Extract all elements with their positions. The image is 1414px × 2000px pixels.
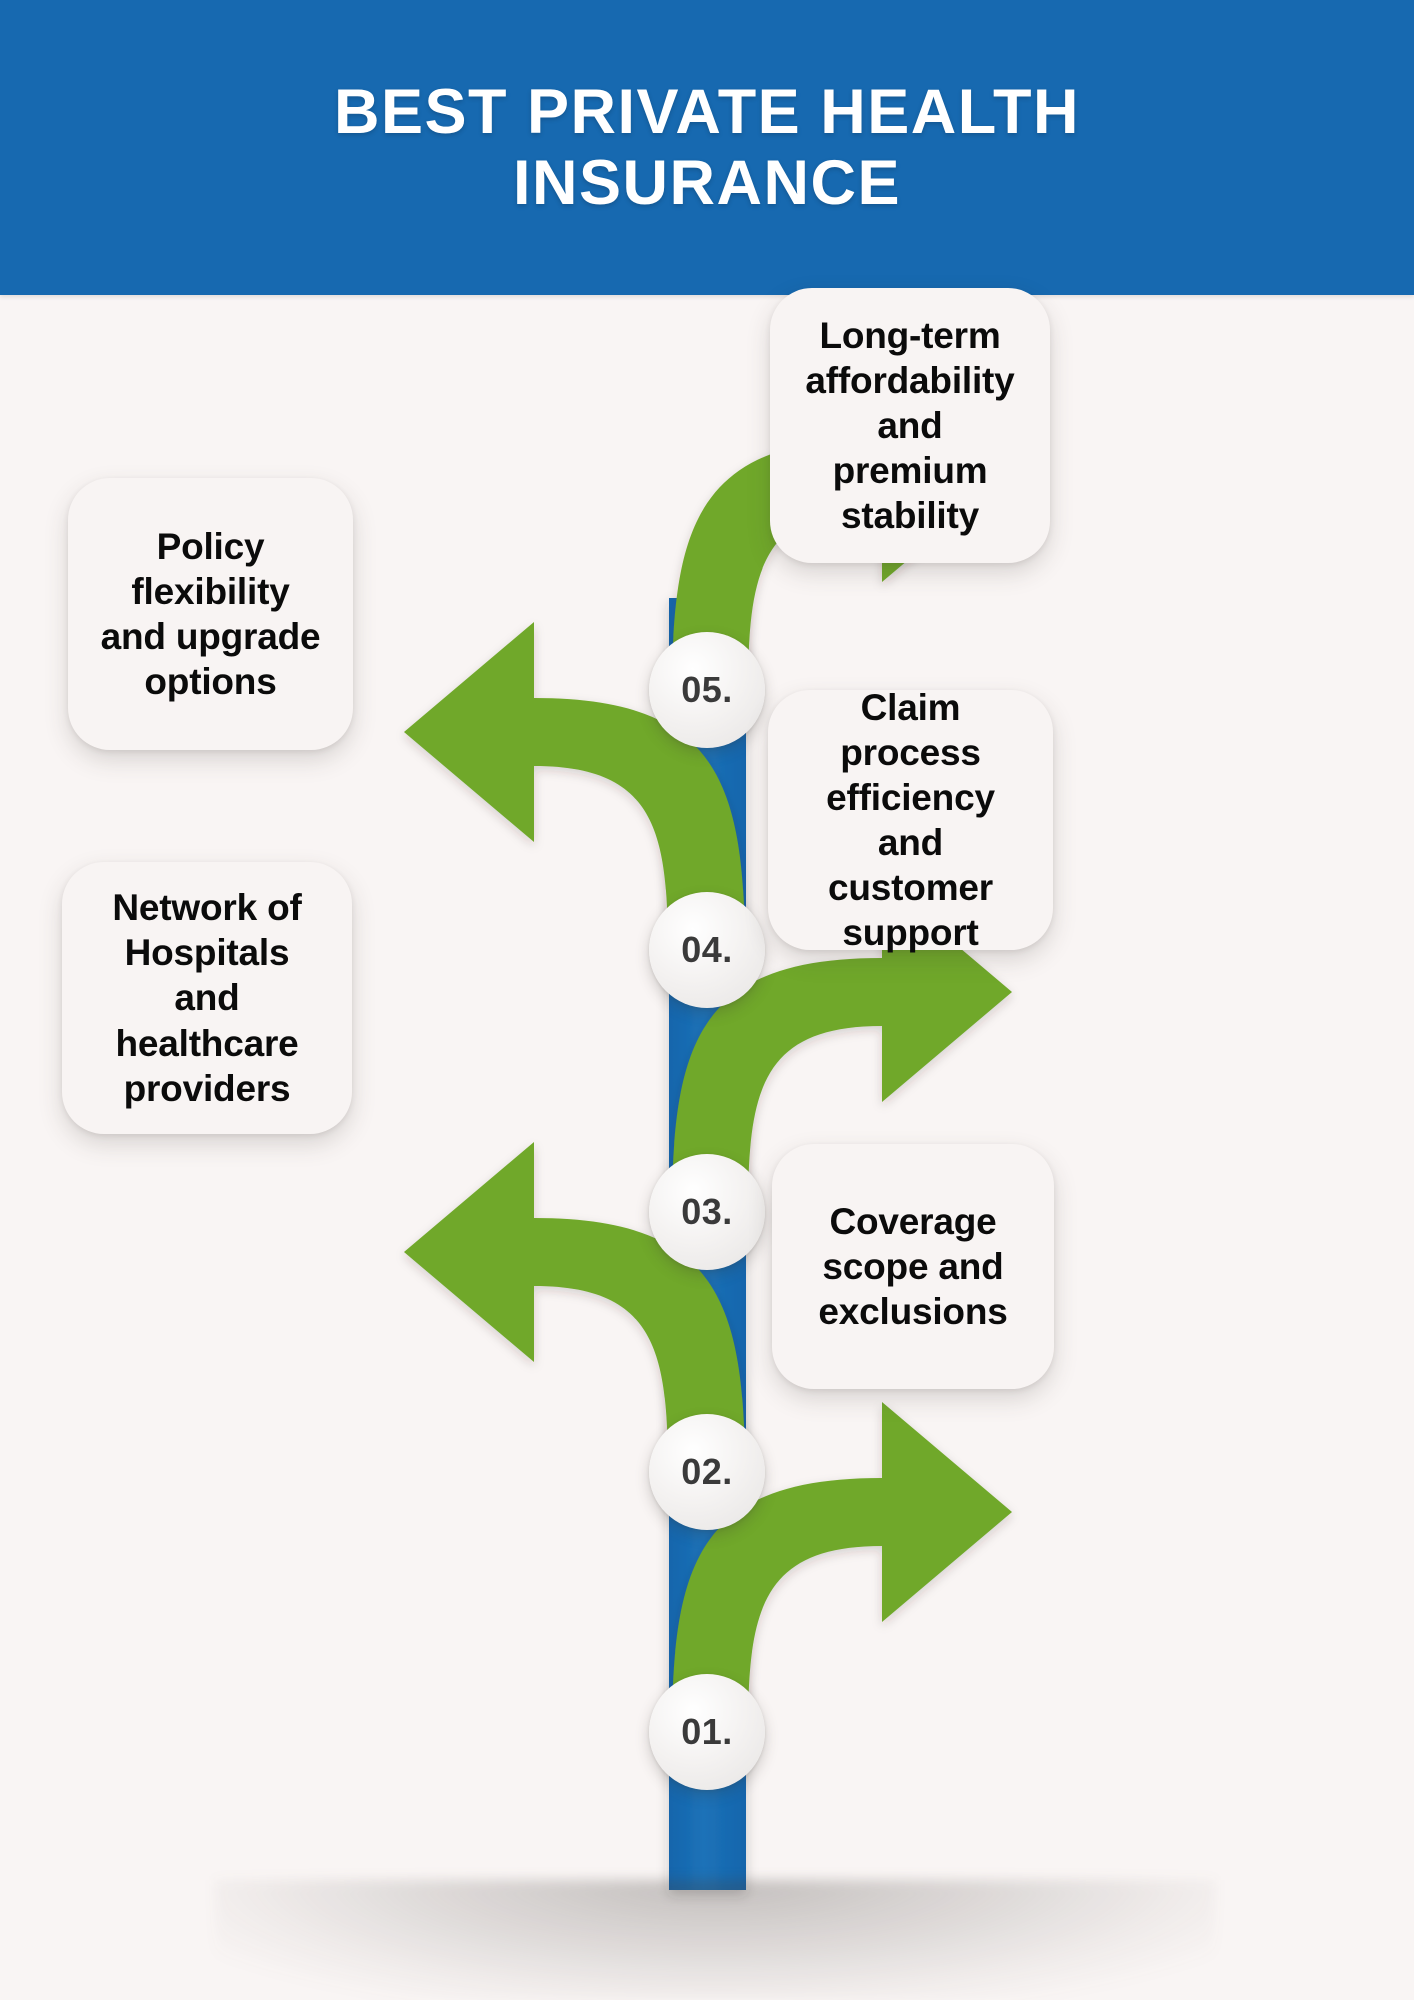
step-number-circle-02[interactable]: 02. — [649, 1414, 765, 1530]
step-number-circle-03[interactable]: 03. — [649, 1154, 765, 1270]
step-card-text-05: Long-term affordability and premium stab… — [796, 313, 1024, 539]
step-card-02[interactable]: Network of Hospitals and healthcare prov… — [62, 862, 352, 1134]
step-number-label-03: 03. — [681, 1191, 733, 1233]
step-card-text-03: Claim process efficiency and customer su… — [794, 685, 1027, 956]
step-number-label-04: 04. — [681, 929, 733, 971]
step-number-label-05: 05. — [681, 669, 733, 711]
step-number-label-01: 01. — [681, 1711, 733, 1753]
step-card-01[interactable]: Coverage scope and exclusions — [772, 1144, 1054, 1389]
step-number-circle-01[interactable]: 01. — [649, 1674, 765, 1790]
step-card-text-04: Policy flexibility and upgrade options — [94, 524, 327, 705]
step-number-label-02: 02. — [681, 1451, 733, 1493]
step-card-text-01: Coverage scope and exclusions — [798, 1199, 1028, 1334]
step-number-circle-04[interactable]: 04. — [649, 892, 765, 1008]
step-card-text-02: Network of Hospitals and healthcare prov… — [88, 885, 326, 1111]
step-card-03[interactable]: Claim process efficiency and customer su… — [768, 690, 1053, 950]
step-card-05[interactable]: Long-term affordability and premium stab… — [770, 288, 1050, 563]
infographic-canvas: Best Private Health Insurance — [0, 0, 1414, 2000]
step-number-circle-05[interactable]: 05. — [649, 632, 765, 748]
step-card-04[interactable]: Policy flexibility and upgrade options — [68, 478, 353, 750]
